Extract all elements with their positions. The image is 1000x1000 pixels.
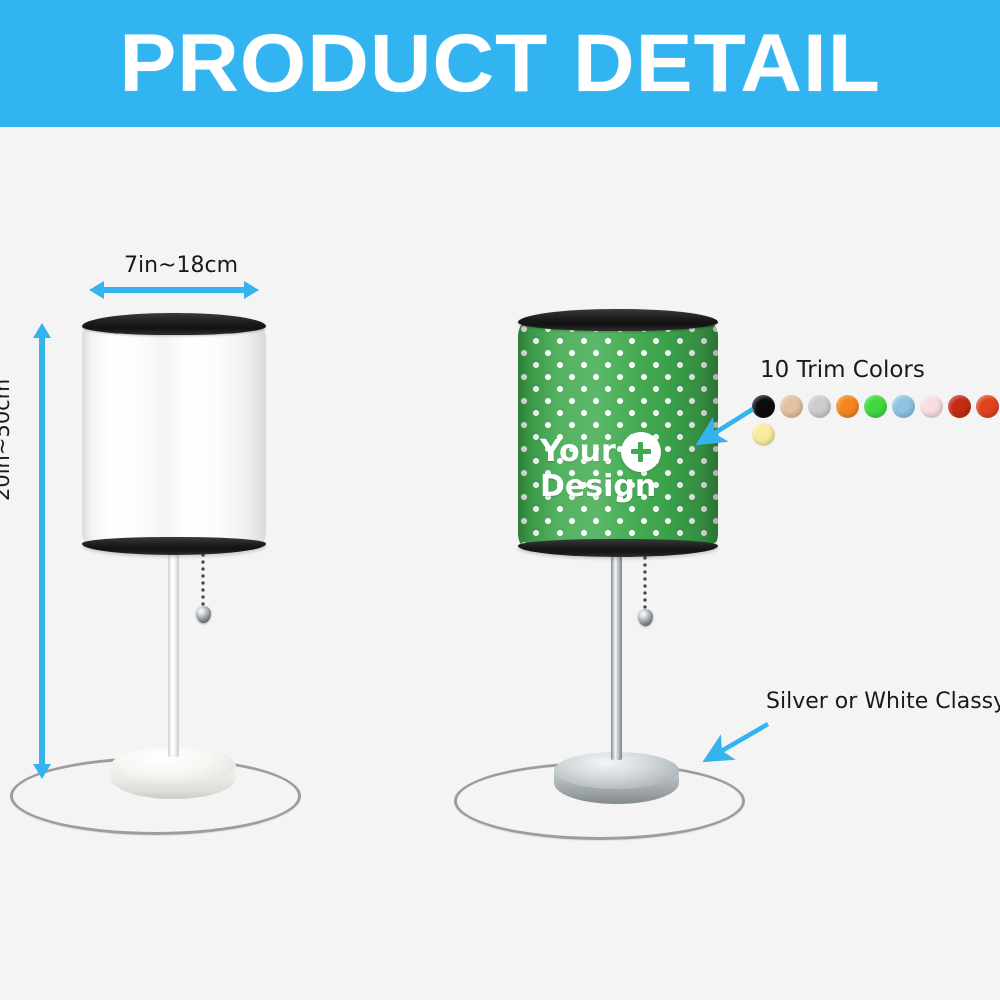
- trim-swatch-red[interactable]: [976, 395, 999, 418]
- design-line-2: Design: [540, 472, 656, 501]
- your-design-logo: Your Design: [540, 432, 690, 501]
- lamp-base-silver: [554, 752, 679, 814]
- product-detail-page: PRODUCT DETAIL 7in~18cm: [0, 0, 1000, 1000]
- trim-swatch-light-blue[interactable]: [892, 395, 915, 418]
- green-design-lamp: Your Design: [430, 127, 850, 1000]
- base-finish-note: Silver or White Classy: [766, 689, 1000, 714]
- lamp-shade-white: [82, 313, 266, 555]
- trim-swatch-green[interactable]: [864, 395, 887, 418]
- trim-swatch-orange[interactable]: [836, 395, 859, 418]
- pull-chain-silver: [643, 555, 647, 612]
- lamp-pole-white: [168, 552, 179, 757]
- width-dimension-label: 7in~18cm: [124, 253, 238, 278]
- header-banner: PRODUCT DETAIL: [0, 0, 1000, 127]
- lamp-pole-silver: [611, 555, 622, 760]
- shade-surface-white: [82, 325, 266, 545]
- trim-colors-swatch-list: [752, 395, 1000, 446]
- trim-swatch-dark-red[interactable]: [948, 395, 971, 418]
- shade-trim-bottom-green: [518, 539, 718, 557]
- trim-swatch-tan[interactable]: [780, 395, 803, 418]
- design-line-1: Your: [540, 437, 616, 466]
- trim-swatch-light-gray[interactable]: [808, 395, 831, 418]
- shade-trim-bottom-white: [82, 537, 266, 555]
- plus-icon: [621, 432, 661, 472]
- pull-chain-ball-silver: [638, 609, 653, 626]
- shade-trim-top-white: [82, 313, 266, 335]
- pull-chain-ball-white: [196, 606, 211, 623]
- shade-trim-top-green: [518, 309, 718, 331]
- trim-swatch-pink[interactable]: [920, 395, 943, 418]
- product-stage: 7in~18cm 20in~50cm: [0, 127, 1000, 1000]
- trim-pointer-arrow: [688, 405, 758, 451]
- height-dimension-label: 20in~50cm: [0, 379, 14, 501]
- page-title: PRODUCT DETAIL: [119, 23, 881, 105]
- trim-colors-title: 10 Trim Colors: [760, 357, 925, 383]
- white-lamp: 7in~18cm 20in~50cm: [0, 127, 420, 1000]
- pull-chain-white: [201, 552, 205, 609]
- height-dimension-arrow: [39, 337, 45, 765]
- base-pointer-arrow: [694, 719, 774, 769]
- width-dimension-arrow: [103, 287, 245, 293]
